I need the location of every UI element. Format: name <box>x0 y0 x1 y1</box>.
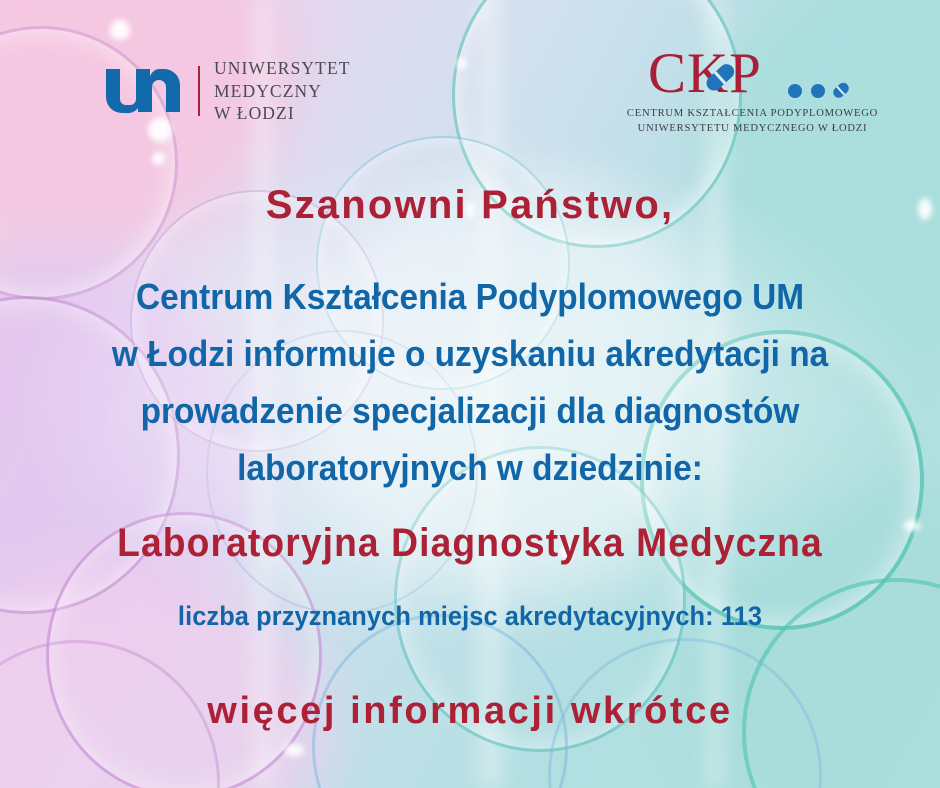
more-info-soon-note: więcej informacji wkrótce <box>0 690 940 733</box>
greeting-heading: Szanowni Państwo, <box>0 183 940 228</box>
paragraph-line-4: laboratoryjnych w dziedzinie: <box>40 439 900 496</box>
accreditation-places-count: liczba przyznanych miejsc akredytacyjnyc… <box>28 601 912 632</box>
announcement-paragraph: Centrum Kształcenia Podyplomowego UM w Ł… <box>40 268 900 496</box>
poster-content: Szanowni Państwo, Centrum Kształcenia Po… <box>0 0 940 788</box>
specialization-field-title: Laboratoryjna Diagnostyka Medyczna <box>33 521 907 566</box>
paragraph-line-1: Centrum Kształcenia Podyplomowego UM <box>40 268 900 325</box>
paragraph-line-3: prowadzenie specjalizacji dla diagnostów <box>40 382 900 439</box>
paragraph-line-2: w Łodzi informuje o uzyskaniu akredytacj… <box>40 325 900 382</box>
announcement-poster: Uniwersytet Medyczny w Łodzi CKP <box>0 0 940 788</box>
